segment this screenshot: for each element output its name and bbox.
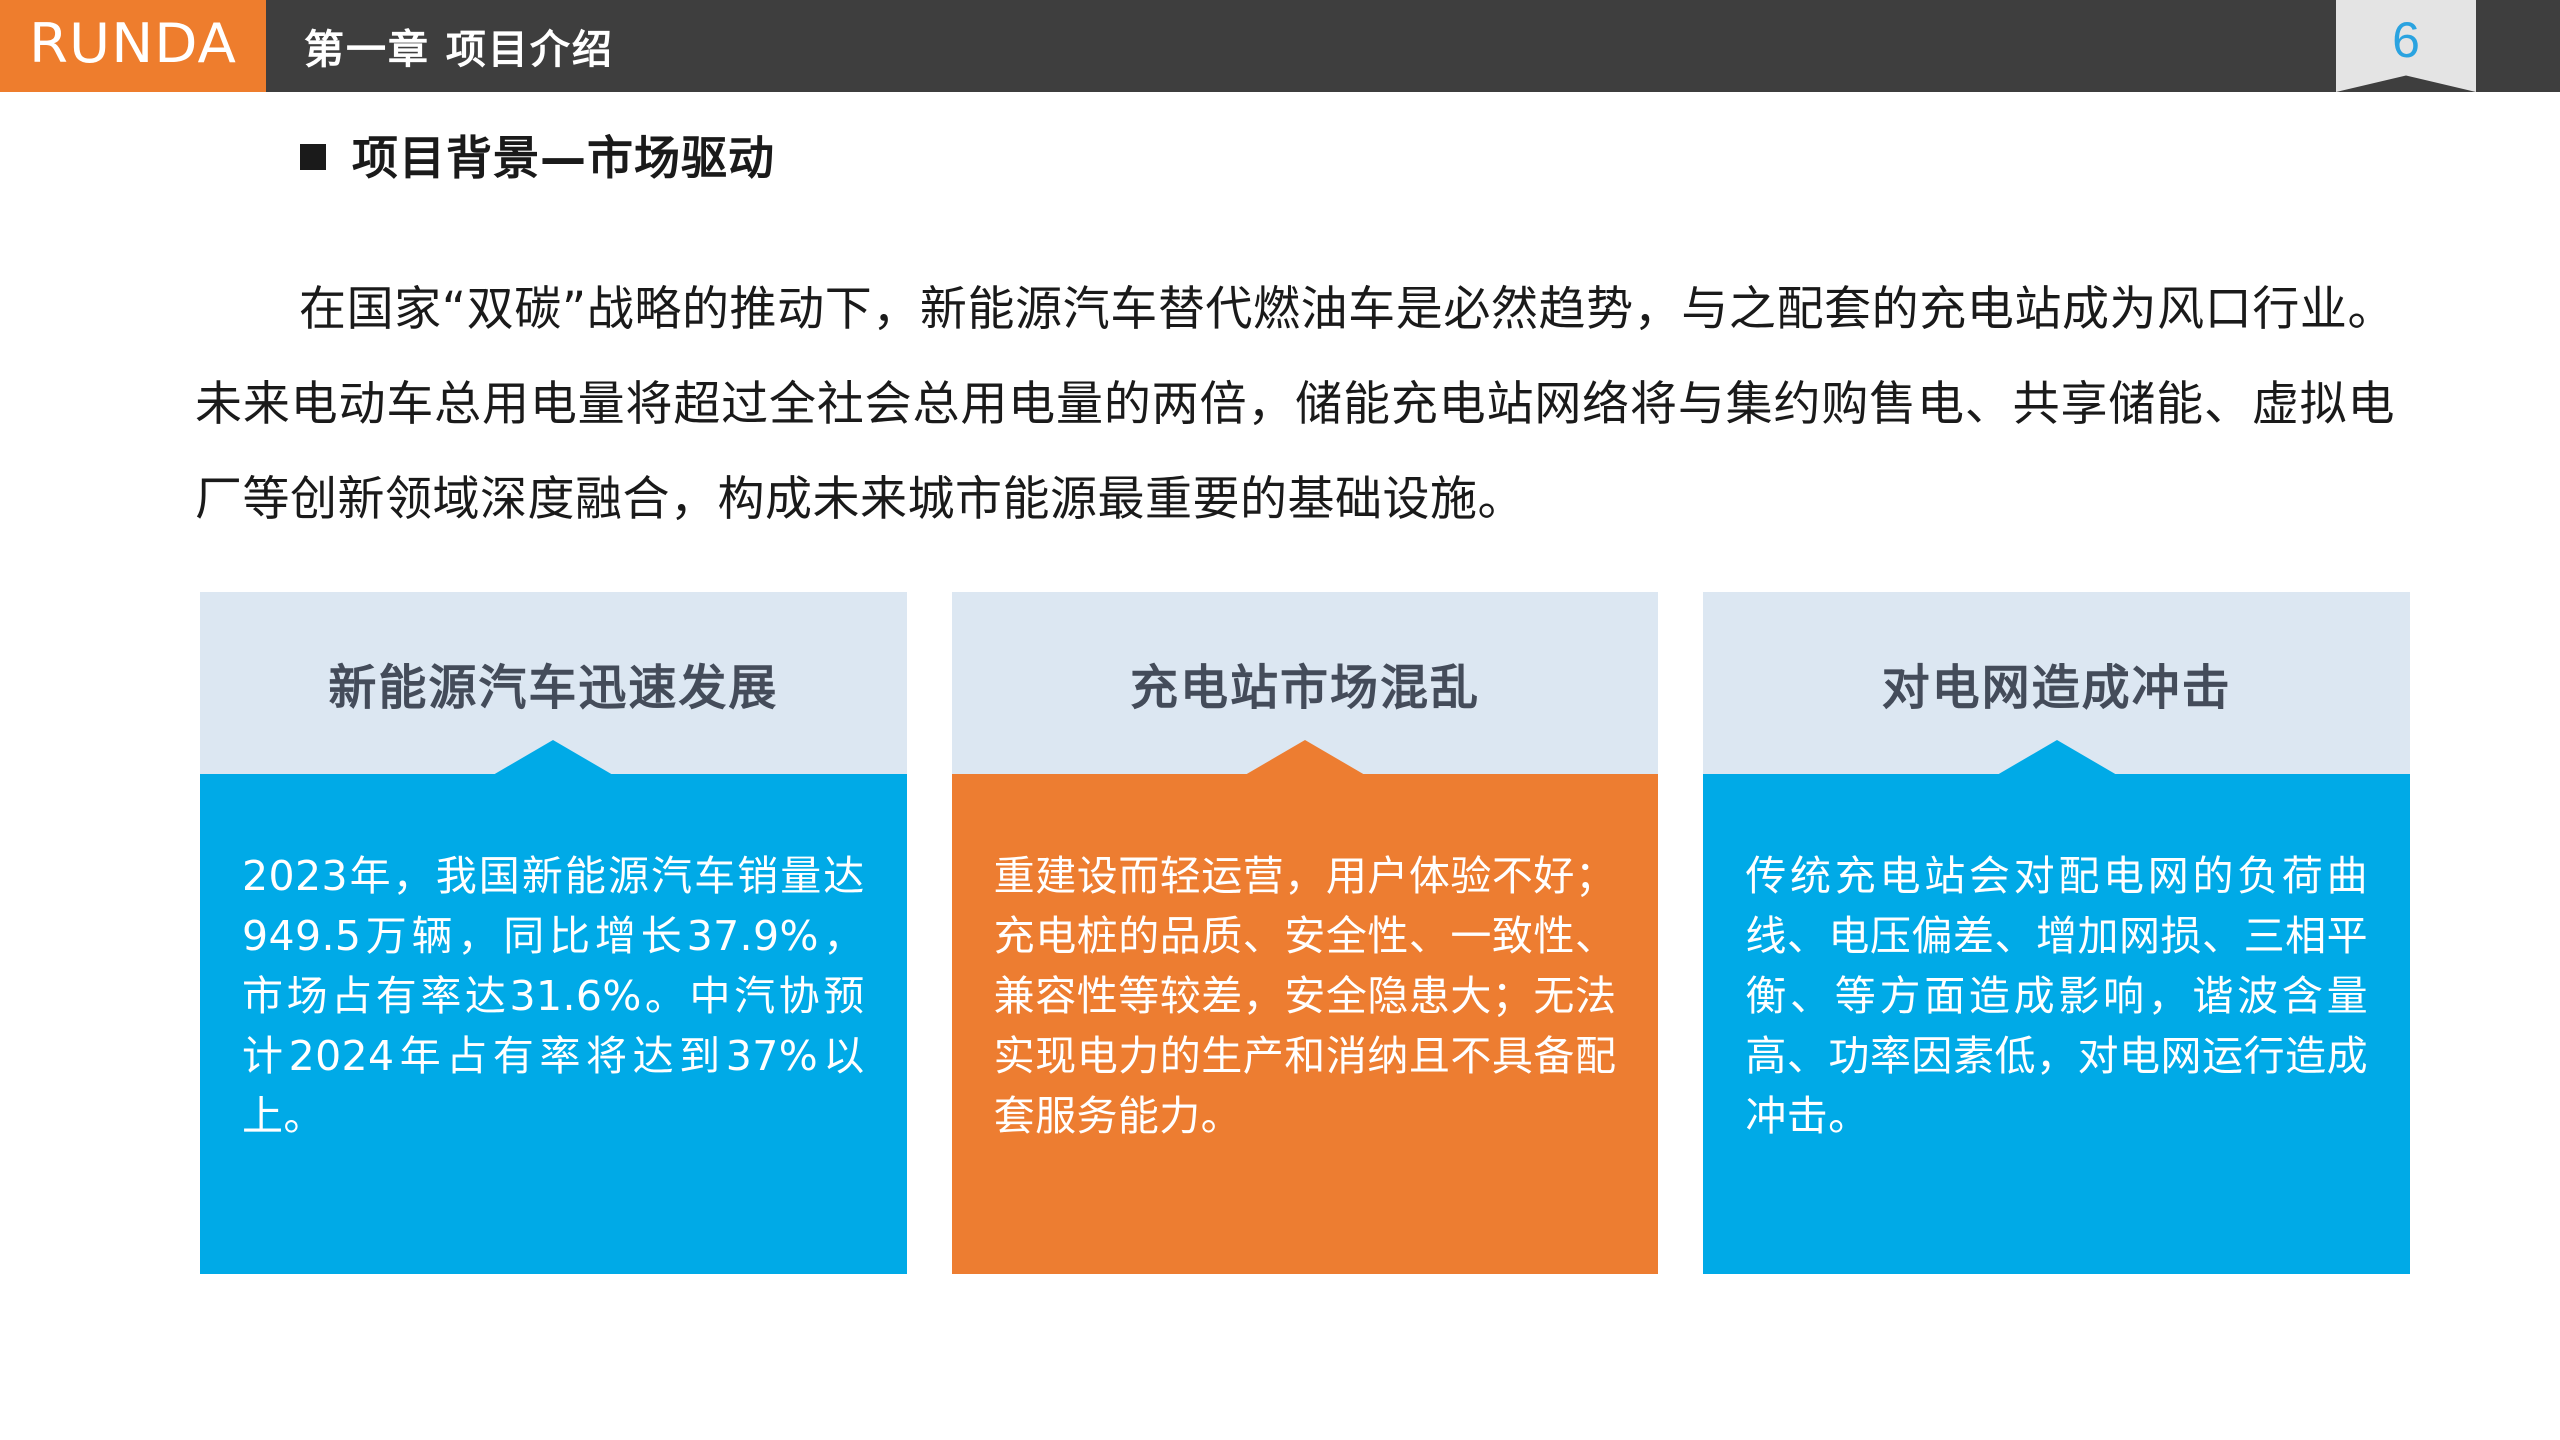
page-number: 6 <box>2336 0 2476 92</box>
cards-row: 新能源汽车迅速发展 2023年，我国新能源汽车销量达949.5万辆，同比增长37… <box>200 592 2410 1274</box>
card-1-title: 新能源汽车迅速发展 <box>328 648 778 718</box>
card-1-notch-icon <box>493 740 613 775</box>
chapter-title: 第一章 项目介绍 <box>266 0 614 92</box>
card-2: 充电站市场混乱 重建设而轻运营，用户体验不好；充电桩的品质、安全性、一致性、兼容… <box>952 592 1659 1274</box>
card-2-body: 重建设而轻运营，用户体验不好；充电桩的品质、安全性、一致性、兼容性等较差，安全隐… <box>952 774 1659 1274</box>
section-heading: 项目背景—市场驱动 <box>300 122 775 188</box>
card-3: 对电网造成冲击 传统充电站会对配电网的负荷曲线、电压偏差、增加网损、三相平衡、等… <box>1703 592 2410 1274</box>
company-logo: RUNDA <box>0 0 266 92</box>
card-3-title: 对电网造成冲击 <box>1882 648 2232 718</box>
bullet-square-icon <box>300 144 326 170</box>
card-3-notch-icon <box>1997 740 2117 775</box>
page-number-ribbon: 6 <box>2336 0 2476 92</box>
card-2-notch-icon <box>1245 740 1365 775</box>
section-heading-text: 项目背景—市场驱动 <box>352 122 775 188</box>
body-paragraph: 在国家“双碳”战略的推动下，新能源汽车替代燃油车是必然趋势，与之配套的充电站成为… <box>195 262 2395 547</box>
card-1: 新能源汽车迅速发展 2023年，我国新能源汽车销量达949.5万辆，同比增长37… <box>200 592 907 1274</box>
card-3-body-text: 传统充电站会对配电网的负荷曲线、电压偏差、增加网损、三相平衡、等方面造成影响，谐… <box>1745 846 2368 1146</box>
card-1-body-text: 2023年，我国新能源汽车销量达949.5万辆，同比增长37.9%，市场占有率达… <box>242 846 865 1146</box>
slide-header-bar: RUNDA 第一章 项目介绍 <box>0 0 2560 92</box>
slide-canvas: RUNDA 第一章 项目介绍 6 项目背景—市场驱动 在国家“双碳”战略的推动下… <box>0 0 2560 1440</box>
card-1-body: 2023年，我国新能源汽车销量达949.5万辆，同比增长37.9%，市场占有率达… <box>200 774 907 1274</box>
card-3-body: 传统充电站会对配电网的负荷曲线、电压偏差、增加网损、三相平衡、等方面造成影响，谐… <box>1703 774 2410 1274</box>
logo-text: RUNDA <box>29 17 237 75</box>
card-2-body-text: 重建设而轻运营，用户体验不好；充电桩的品质、安全性、一致性、兼容性等较差，安全隐… <box>994 846 1617 1146</box>
card-2-title: 充电站市场混乱 <box>1130 648 1480 718</box>
